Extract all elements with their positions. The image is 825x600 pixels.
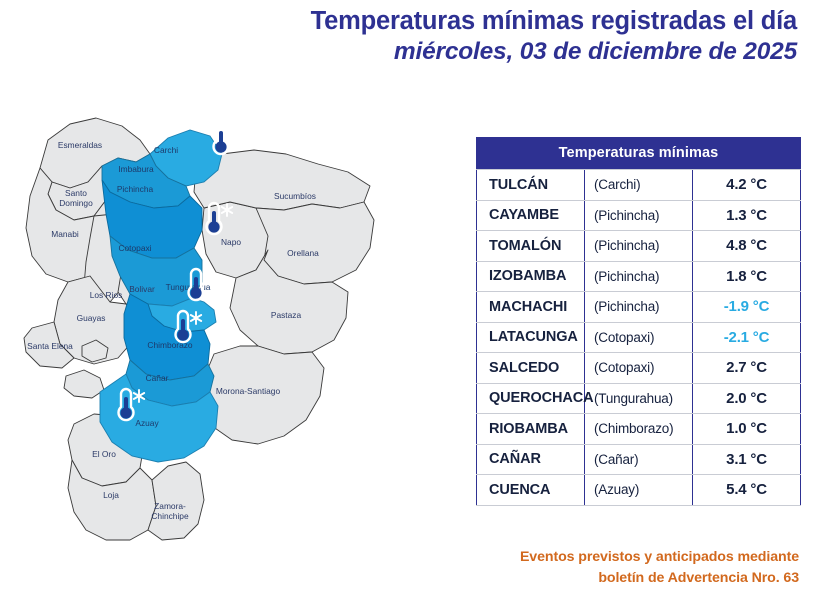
map-label-zamora: Zamora- bbox=[154, 501, 186, 511]
cell-temperature: 1.0 °C bbox=[693, 414, 801, 445]
map-label-pastaza: Pastaza bbox=[271, 310, 302, 320]
island-puna bbox=[64, 370, 104, 398]
cell-city: MACHACHI bbox=[477, 292, 585, 323]
map-label-morona-santiago: Morona-Santiago bbox=[216, 386, 281, 396]
map-label-napo: Napo bbox=[221, 237, 241, 247]
table-row: CAÑAR(Cañar)3.1 °C bbox=[477, 444, 801, 475]
page-subtitle-date: miércoles, 03 de diciembre de 2025 bbox=[0, 36, 797, 68]
map-label-santa-elena: Santa Elena bbox=[27, 341, 73, 351]
snowflake-icon bbox=[229, 124, 239, 136]
table-row: CAYAMBE(Pichincha)1.3 °C bbox=[477, 200, 801, 231]
table-row: QUEROCHACA(Tungurahua)2.0 °C bbox=[477, 383, 801, 414]
map-label-esmeraldas: Esmeraldas bbox=[58, 140, 102, 150]
table-row: CUENCA(Azuay)5.4 °C bbox=[477, 475, 801, 506]
map-label-chinchipe: Chinchipe bbox=[151, 511, 189, 521]
ecuador-province-map: Esmeraldas Carchi Imbabura Santo Domingo… bbox=[18, 96, 448, 544]
cell-province: (Pichincha) bbox=[585, 261, 693, 292]
map-label-cotopaxi: Cotopaxi bbox=[118, 243, 151, 253]
table-body: TULCÁN(Carchi)4.2 °CCAYAMBE(Pichincha)1.… bbox=[477, 170, 801, 506]
table-row: IZOBAMBA(Pichincha)1.8 °C bbox=[477, 261, 801, 292]
table-header-title: Temperaturas mínimas bbox=[477, 138, 801, 170]
cell-province: (Pichincha) bbox=[585, 292, 693, 323]
cell-province: (Cañar) bbox=[585, 444, 693, 475]
map-label-loja: Loja bbox=[103, 490, 119, 500]
table-row: LATACUNGA(Cotopaxi)-2.1 °C bbox=[477, 322, 801, 353]
cell-temperature: 3.1 °C bbox=[693, 444, 801, 475]
footer-line-2: boletín de Advertencia Nro. 63 bbox=[379, 568, 799, 589]
map-label-imbabura: Imbabura bbox=[118, 164, 154, 174]
map-label-domingo: Domingo bbox=[59, 198, 93, 208]
cell-city: CAÑAR bbox=[477, 444, 585, 475]
table-row: TULCÁN(Carchi)4.2 °C bbox=[477, 170, 801, 201]
cell-city: QUEROCHACA bbox=[477, 383, 585, 414]
table-header-row: Temperaturas mínimas bbox=[477, 138, 801, 170]
map-label-pichincha: Pichincha bbox=[117, 184, 154, 194]
map-label-azuay: Azuay bbox=[135, 418, 159, 428]
map-label-canar: Cañar bbox=[146, 373, 169, 383]
map-label-carchi: Carchi bbox=[154, 145, 178, 155]
map-label-sucumbios: Sucumbíos bbox=[274, 191, 316, 201]
page-header: Temperaturas mínimas registradas el día … bbox=[0, 0, 825, 68]
map-label-orellana: Orellana bbox=[287, 248, 319, 258]
temperature-table: Temperaturas mínimas TULCÁN(Carchi)4.2 °… bbox=[476, 137, 801, 506]
cell-temperature: 4.2 °C bbox=[693, 170, 801, 201]
cell-temperature: 1.3 °C bbox=[693, 200, 801, 231]
map-label-el-oro: El Oro bbox=[92, 449, 116, 459]
table-row: RIOBAMBA(Chimborazo)1.0 °C bbox=[477, 414, 801, 445]
thermometer-snowflake-carchi bbox=[214, 123, 240, 154]
cell-province: (Tungurahua) bbox=[585, 383, 693, 414]
cell-province: (Azuay) bbox=[585, 475, 693, 506]
cell-temperature: 5.4 °C bbox=[693, 475, 801, 506]
cell-temperature: 2.7 °C bbox=[693, 353, 801, 384]
map-label-santo: Santo bbox=[65, 188, 87, 198]
cell-province: (Cotopaxi) bbox=[585, 353, 693, 384]
cell-province: (Carchi) bbox=[585, 170, 693, 201]
cell-temperature: 1.8 °C bbox=[693, 261, 801, 292]
cell-city: CUENCA bbox=[477, 475, 585, 506]
cell-province: (Pichincha) bbox=[585, 200, 693, 231]
map-label-bolivar: Bolivar bbox=[129, 284, 155, 294]
snowflake-icon bbox=[204, 270, 214, 282]
map-label-los-rios: Los Rios bbox=[90, 290, 123, 300]
cell-city: IZOBAMBA bbox=[477, 261, 585, 292]
footer-line-1: Eventos previstos y anticipados mediante bbox=[379, 547, 799, 568]
cell-city: RIOBAMBA bbox=[477, 414, 585, 445]
map-label-guayas: Guayas bbox=[77, 313, 106, 323]
cell-city: CAYAMBE bbox=[477, 200, 585, 231]
table-row: MACHACHI(Pichincha)-1.9 °C bbox=[477, 292, 801, 323]
cell-temperature: -2.1 °C bbox=[693, 322, 801, 353]
table-row: TOMALÓN(Pichincha)4.8 °C bbox=[477, 231, 801, 262]
cell-temperature: 2.0 °C bbox=[693, 383, 801, 414]
cell-province: (Cotopaxi) bbox=[585, 322, 693, 353]
temperature-table-container: Temperaturas mínimas TULCÁN(Carchi)4.2 °… bbox=[476, 137, 801, 506]
cell-city: TULCÁN bbox=[477, 170, 585, 201]
cell-city: SALCEDO bbox=[477, 353, 585, 384]
cell-province: (Chimborazo) bbox=[585, 414, 693, 445]
cell-temperature: 4.8 °C bbox=[693, 231, 801, 262]
page-title: Temperaturas mínimas registradas el día bbox=[0, 6, 797, 36]
cell-city: TOMALÓN bbox=[477, 231, 585, 262]
cell-province: (Pichincha) bbox=[585, 231, 693, 262]
map-label-manabi: Manabi bbox=[51, 229, 79, 239]
table-row: SALCEDO(Cotopaxi)2.7 °C bbox=[477, 353, 801, 384]
cell-city: LATACUNGA bbox=[477, 322, 585, 353]
cell-temperature: -1.9 °C bbox=[693, 292, 801, 323]
footer-note: Eventos previstos y anticipados mediante… bbox=[379, 547, 799, 588]
